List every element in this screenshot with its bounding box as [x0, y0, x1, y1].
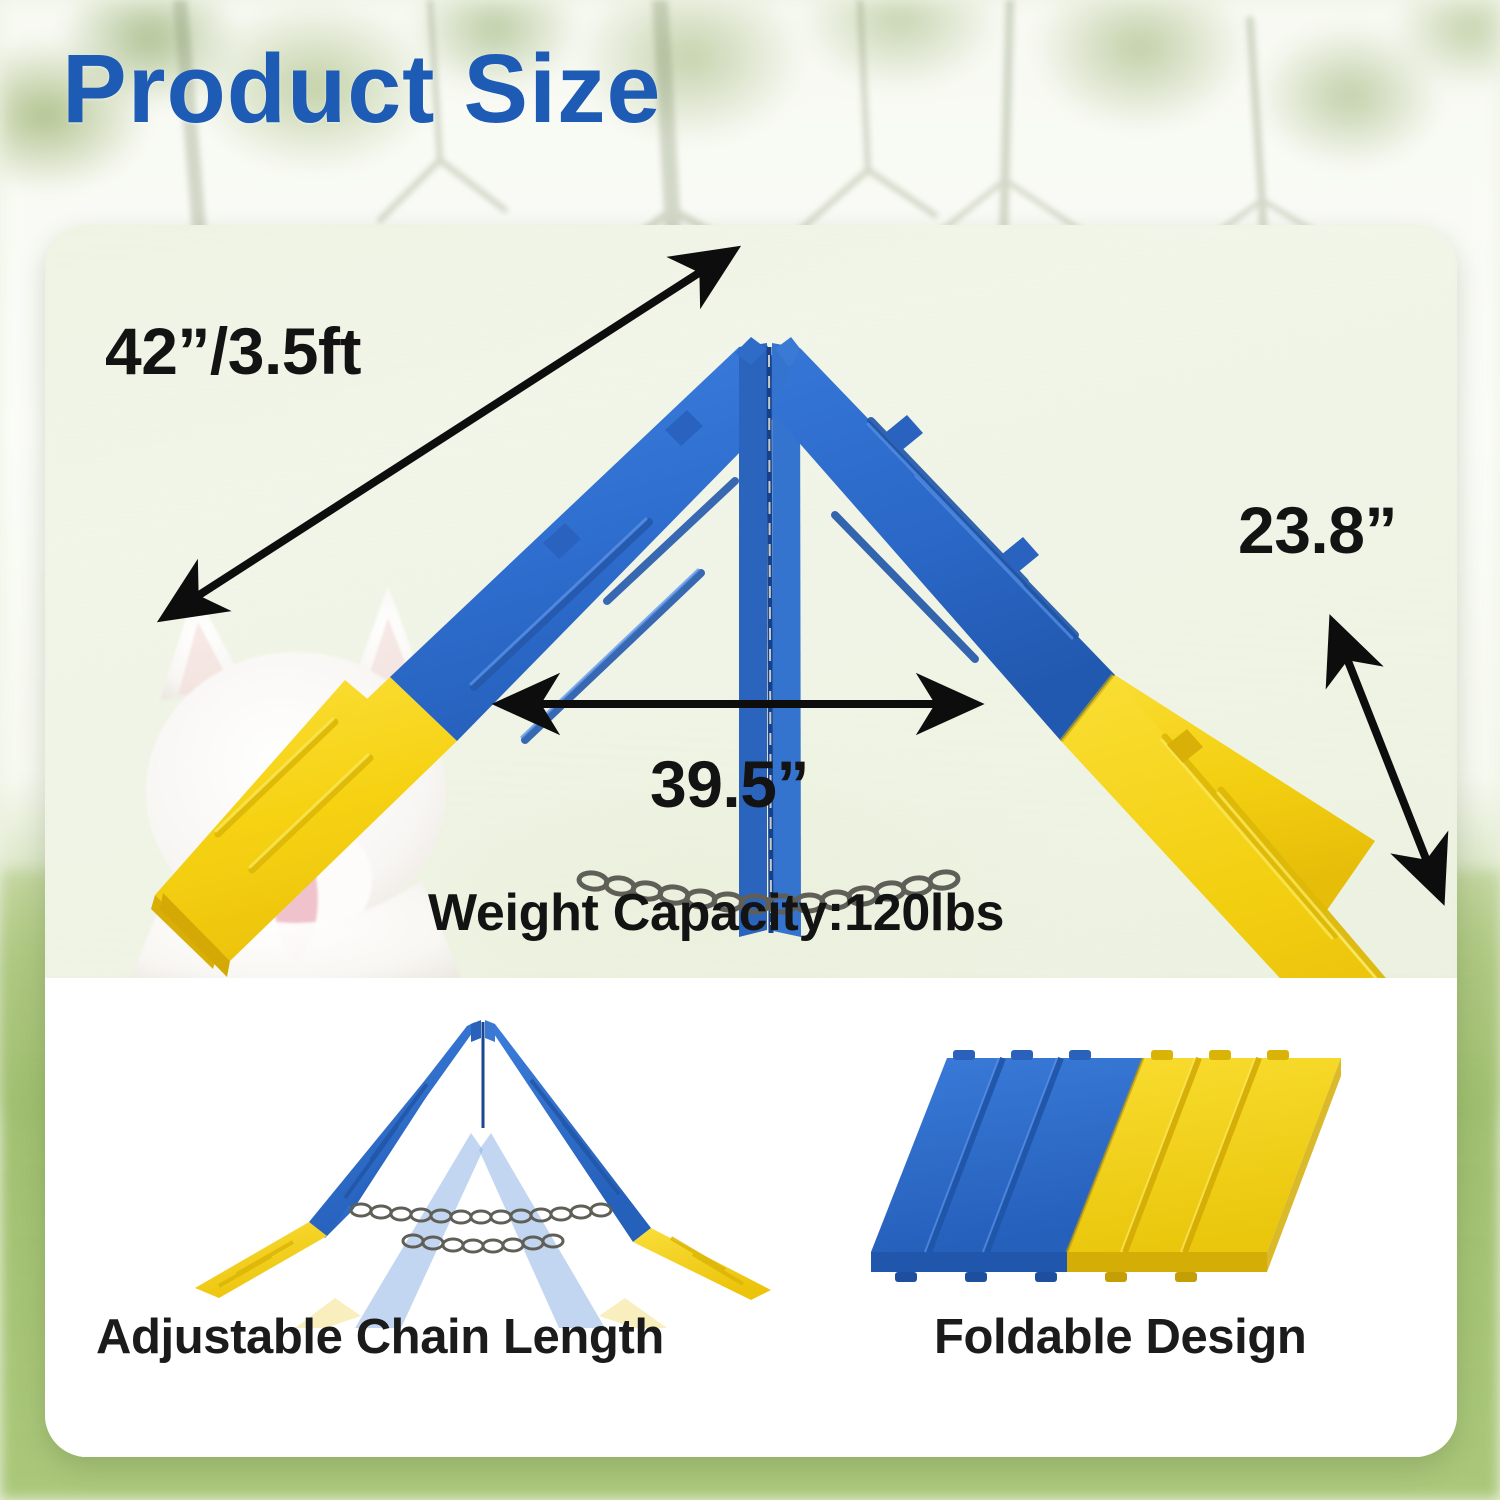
dimension-label-width: 23.8” [1238, 492, 1397, 568]
chain-upper [351, 1204, 611, 1223]
feature-section [45, 978, 1457, 1457]
weight-capacity-label: Weight Capacity:120lbs [428, 883, 1004, 943]
infographic-page: Product Size [0, 0, 1500, 1500]
ramp-left-wing [160, 343, 803, 977]
feature-image-foldable-design [855, 1016, 1415, 1316]
feature-image-adjustable-chain [175, 998, 795, 1328]
dimension-label-spread: 39.5” [650, 746, 809, 822]
feature-caption-adjustable-chain: Adjustable Chain Length [96, 1309, 664, 1365]
content-card [45, 225, 1457, 1457]
page-title: Product Size [62, 38, 662, 140]
feature-caption-foldable-design: Foldable Design [934, 1309, 1306, 1365]
dimension-label-length: 42”/3.5ft [105, 313, 361, 389]
